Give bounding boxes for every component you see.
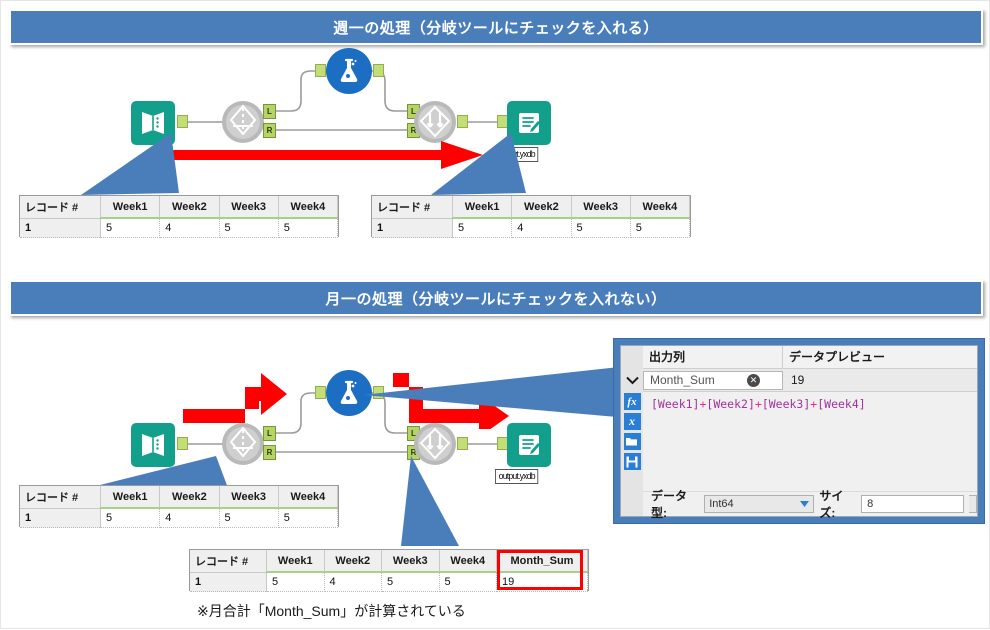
flask-icon bbox=[326, 48, 372, 94]
col-header: Week1 bbox=[101, 196, 160, 218]
table-header-row: レコード # Week1 Week2 Week3 Week4 bbox=[372, 196, 690, 218]
cell: 4 bbox=[512, 218, 571, 238]
cell: 4 bbox=[324, 572, 382, 592]
table-monthly-after: レコード # Week1 Week2 Week3 Week4 Month_Sum… bbox=[190, 550, 588, 592]
col-header: Week4 bbox=[439, 550, 497, 572]
cell: 5 bbox=[267, 572, 325, 592]
col-header: Week4 bbox=[278, 486, 337, 508]
expression-editor[interactable]: [Week1]+[Week2]+[Week3]+[Week4] bbox=[643, 392, 977, 491]
data-table-monthly-before: レコード # Week1 Week2 Week3 Week4 1 5 4 5 5 bbox=[19, 485, 339, 527]
col-header: Week3 bbox=[219, 486, 278, 508]
fx-icon[interactable]: fx bbox=[624, 393, 641, 410]
formula-footer: データ型: Int64 サイズ: 8 bbox=[643, 491, 977, 516]
data-table-weekly-before: レコード # Week1 Week2 Week3 Week4 1 5 4 5 5 bbox=[19, 195, 339, 237]
data-table-weekly-after: レコード # Week1 Week2 Week3 Week4 1 5 4 5 5 bbox=[371, 195, 691, 237]
callout-monthly-formula bbox=[351, 367, 621, 427]
header-data-preview: データプレビュー bbox=[783, 346, 977, 368]
col-header: Week1 bbox=[267, 550, 325, 572]
table-row: 1 5 4 5 5 bbox=[20, 508, 338, 528]
table-weekly-before: レコード # Week1 Week2 Week3 Week4 1 5 4 5 5 bbox=[20, 196, 338, 238]
expr-token: [Week3] bbox=[762, 397, 810, 411]
page-root: 週一の処理（分岐ツールにチェックを入れる） 月一の処理（分岐ツールにチェックを入… bbox=[0, 0, 990, 629]
cell: 5 bbox=[219, 508, 278, 528]
cell: 4 bbox=[160, 218, 219, 238]
col-header-month-sum: Month_Sum bbox=[497, 550, 588, 572]
callout-weekly-before bbox=[61, 133, 191, 199]
union-output-anchor[interactable] bbox=[457, 437, 468, 450]
cell: 5 bbox=[630, 218, 689, 238]
cell: 5 bbox=[219, 218, 278, 238]
datatype-select[interactable]: Int64 bbox=[704, 495, 814, 513]
col-header: Week2 bbox=[512, 196, 571, 218]
cell: 5 bbox=[101, 218, 160, 238]
col-header: レコード # bbox=[372, 196, 453, 218]
monthly-caption: ※月合計「Month_Sum」が計算されている bbox=[197, 601, 466, 621]
cell: 5 bbox=[101, 508, 160, 528]
formula-tool-weekly[interactable] bbox=[326, 48, 372, 94]
chevron-down-icon[interactable] bbox=[621, 376, 643, 385]
join-left-anchor[interactable]: L bbox=[263, 104, 276, 119]
callout-monthly-after bbox=[401, 456, 521, 551]
cell-record-num: 1 bbox=[20, 508, 101, 528]
join-right-anchor[interactable]: R bbox=[263, 123, 276, 138]
variable-x-icon[interactable]: x bbox=[624, 413, 641, 430]
cell-record-num: 1 bbox=[372, 218, 453, 238]
formula-gutter: fx x bbox=[621, 346, 643, 516]
col-header: Week4 bbox=[630, 196, 689, 218]
table-row: 1 5 4 5 5 19 bbox=[190, 572, 588, 592]
table-header-row: レコード # Week1 Week2 Week3 Week4 bbox=[20, 486, 338, 508]
col-header: Week2 bbox=[324, 550, 382, 572]
section-banner-monthly: 月一の処理（分岐ツールにチェックを入れない） bbox=[9, 280, 983, 316]
cell-record-num: 1 bbox=[190, 572, 267, 592]
union-output-anchor[interactable] bbox=[457, 115, 468, 128]
cell: 5 bbox=[278, 218, 337, 238]
data-table-monthly-after: レコード # Week1 Week2 Week3 Week4 Month_Sum… bbox=[189, 549, 589, 591]
header-output-column: 出力列 bbox=[643, 346, 783, 368]
cell-month-sum: 19 bbox=[497, 572, 588, 592]
expr-operator: + bbox=[755, 397, 762, 411]
formula-columns-header: 出力列 データプレビュー bbox=[643, 346, 977, 369]
col-header: Week1 bbox=[453, 196, 512, 218]
callout-weekly-after bbox=[431, 133, 561, 199]
cell: 4 bbox=[160, 508, 219, 528]
formula-panel-inner: fx x 出力列 デー bbox=[620, 345, 978, 517]
col-header: Week3 bbox=[571, 196, 630, 218]
size-label: サイズ: bbox=[819, 487, 856, 521]
col-header: Week2 bbox=[160, 486, 219, 508]
col-header: Week3 bbox=[219, 196, 278, 218]
expr-token: [Week4] bbox=[817, 397, 865, 411]
output-anchor[interactable] bbox=[177, 437, 188, 450]
output-field-value: Month_Sum bbox=[650, 373, 715, 387]
output-field-input[interactable]: Month_Sum ✕ bbox=[643, 371, 783, 390]
size-spinner[interactable] bbox=[969, 495, 977, 513]
chevron-down-icon bbox=[800, 501, 809, 507]
section-banner-weekly: 週一の処理（分岐ツールにチェックを入れる） bbox=[9, 9, 983, 45]
cell: 5 bbox=[439, 572, 497, 592]
col-header: レコード # bbox=[190, 550, 267, 572]
save-disk-icon[interactable] bbox=[624, 453, 641, 470]
cell: 5 bbox=[382, 572, 440, 592]
col-header: レコード # bbox=[20, 196, 101, 218]
cell: 5 bbox=[453, 218, 512, 238]
formula-input-anchor[interactable] bbox=[315, 64, 326, 77]
expr-token: [Week2] bbox=[706, 397, 754, 411]
join-left-anchor[interactable]: L bbox=[263, 426, 276, 441]
formula-main: 出力列 データプレビュー Month_Sum ✕ 19 [Week1]+[Wee… bbox=[643, 346, 977, 516]
preview-value: 19 bbox=[783, 373, 977, 387]
table-row: 1 5 4 5 5 bbox=[372, 218, 690, 238]
datatype-label: データ型: bbox=[651, 487, 699, 521]
col-header: レコード # bbox=[20, 486, 101, 508]
expr-token: [Week1] bbox=[651, 397, 699, 411]
cell: 5 bbox=[571, 218, 630, 238]
table-header-row: レコード # Week1 Week2 Week3 Week4 bbox=[20, 196, 338, 218]
col-header: Week1 bbox=[101, 486, 160, 508]
clear-icon[interactable]: ✕ bbox=[747, 374, 760, 387]
formula-output-row: Month_Sum ✕ 19 bbox=[643, 369, 977, 392]
red-arrow-monthly-left bbox=[183, 365, 303, 427]
table-weekly-after: レコード # Week1 Week2 Week3 Week4 1 5 4 5 5 bbox=[372, 196, 690, 238]
open-folder-icon[interactable] bbox=[624, 433, 641, 450]
formula-input-anchor[interactable] bbox=[315, 386, 326, 399]
col-header: Week4 bbox=[278, 196, 337, 218]
cell-record-num: 1 bbox=[20, 218, 101, 238]
col-header: Week3 bbox=[382, 550, 440, 572]
join-right-anchor[interactable]: R bbox=[263, 445, 276, 460]
datatype-value: Int64 bbox=[709, 498, 733, 510]
table-monthly-before: レコード # Week1 Week2 Week3 Week4 1 5 4 5 5 bbox=[20, 486, 338, 528]
size-value: 8 bbox=[867, 498, 873, 510]
table-header-row: レコード # Week1 Week2 Week3 Week4 Month_Sum bbox=[190, 550, 588, 572]
cell: 5 bbox=[278, 508, 337, 528]
size-input[interactable]: 8 bbox=[861, 495, 964, 513]
output-anchor[interactable] bbox=[177, 115, 188, 128]
formula-output-anchor[interactable] bbox=[373, 64, 384, 77]
formula-config-panel: fx x 出力列 デー bbox=[613, 338, 985, 524]
col-header: Week2 bbox=[160, 196, 219, 218]
table-row: 1 5 4 5 5 bbox=[20, 218, 338, 238]
